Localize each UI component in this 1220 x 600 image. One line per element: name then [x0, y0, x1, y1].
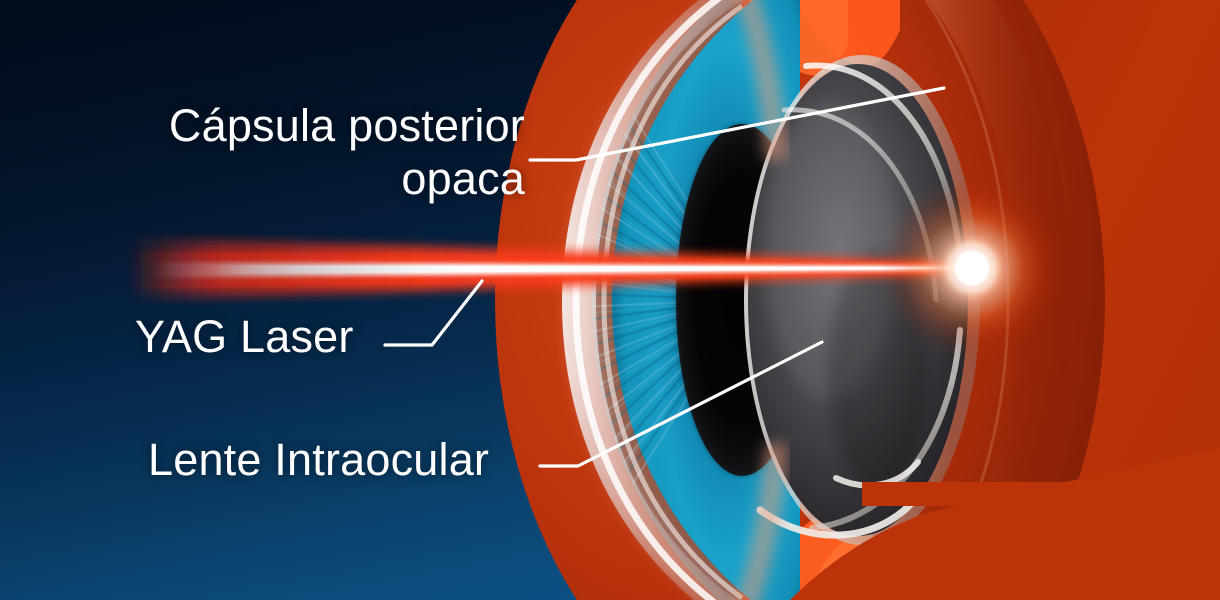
corner-wedge-overlay — [0, 0, 1220, 600]
eye-illustration: Cápsula posterioropaca YAG Laser Lente I… — [0, 0, 1220, 600]
